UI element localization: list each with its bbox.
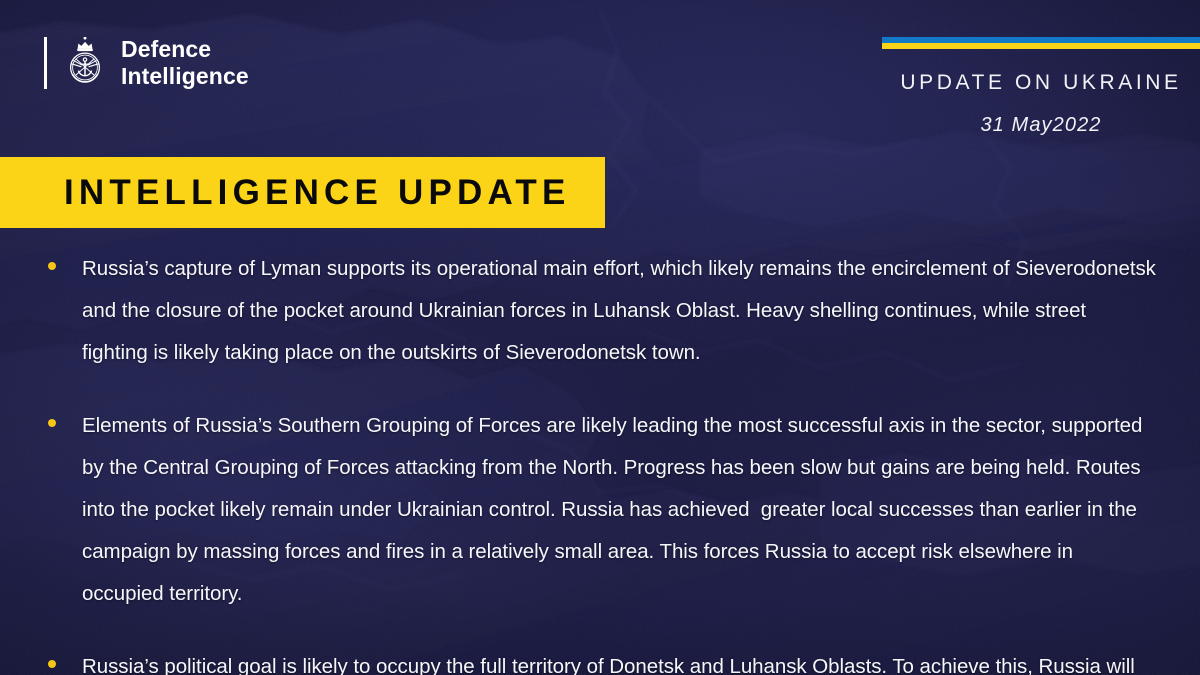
brand-line-defence: Defence xyxy=(121,36,249,63)
list-item: Russia’s capture of Lyman supports its o… xyxy=(44,248,1156,374)
list-item: Elements of Russia’s Southern Grouping o… xyxy=(44,405,1156,615)
mod-crest-icon xyxy=(63,37,107,89)
bullet-dot-icon xyxy=(48,660,56,668)
intelligence-update-banner: INTELLIGENCE UPDATE xyxy=(0,157,605,228)
update-on-ukraine-label: UPDATE ON UKRAINE xyxy=(882,71,1200,95)
brand-line-intelligence: Intelligence xyxy=(121,63,249,90)
bullet-text: Russia’s political goal is likely to occ… xyxy=(82,646,1156,675)
brand-divider-rule xyxy=(44,37,47,89)
ukraine-flag-bar xyxy=(882,37,1200,49)
update-date: 31 May2022 xyxy=(882,114,1200,137)
brand-lockup: Defence Intelligence xyxy=(44,36,249,90)
list-item: Russia’s political goal is likely to occ… xyxy=(44,646,1156,675)
flag-yellow-stripe xyxy=(882,43,1200,49)
bullet-dot-icon xyxy=(48,262,56,270)
bullet-dot-icon xyxy=(48,419,56,427)
bullet-text: Russia’s capture of Lyman supports its o… xyxy=(82,248,1156,374)
brand-text: Defence Intelligence xyxy=(121,36,249,90)
bullet-list: Russia’s capture of Lyman supports its o… xyxy=(44,248,1156,675)
intelligence-update-poster: Defence Intelligence UPDATE ON UKRAINE 3… xyxy=(0,0,1200,675)
bullet-text: Elements of Russia’s Southern Grouping o… xyxy=(82,405,1156,615)
banner-title: INTELLIGENCE UPDATE xyxy=(64,173,571,213)
